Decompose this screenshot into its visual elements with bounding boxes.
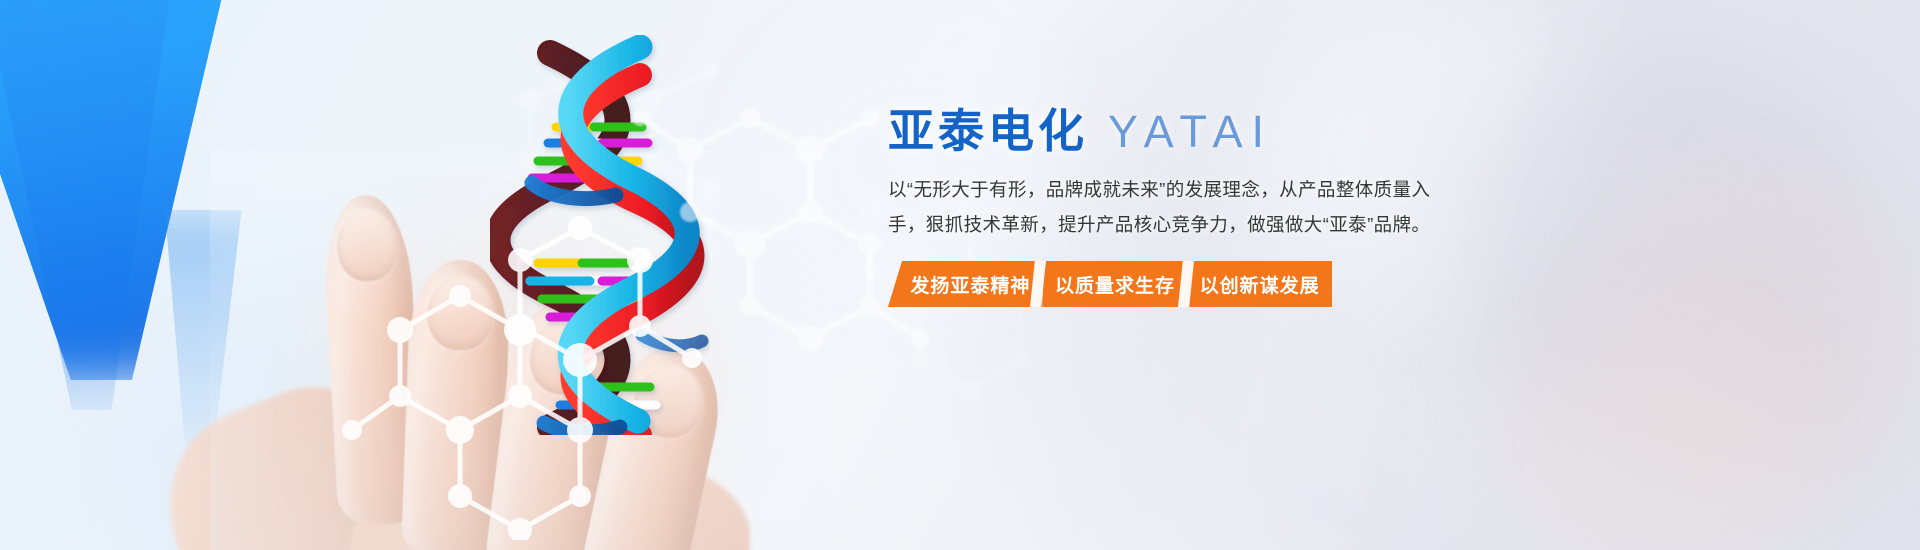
dna-double-helix-icon: [490, 35, 710, 435]
slogan-tag[interactable]: 发扬亚泰精神: [888, 261, 1043, 307]
slogan-tag[interactable]: 以质量求生存: [1043, 261, 1188, 307]
background-blob: [1600, 190, 1920, 520]
slogan-tag-label: 以创新谋发展: [1200, 271, 1320, 298]
banner-description: 以“无形大于有形，品牌成就未来”的发展理念，从产品整体质量入 手，狠抓技术革新，…: [888, 172, 1512, 242]
title-english: YATAI: [1108, 106, 1273, 157]
background-blob: [1500, 330, 1800, 550]
description-line-2: 手，狠抓技术革新，提升产品核心竞争力，做强做大“亚泰”品牌。: [888, 207, 1512, 242]
hero-banner: 亚泰电化YATAI 以“无形大于有形，品牌成就未来”的发展理念，从产品整体质量入…: [0, 0, 1920, 550]
banner-content: 亚泰电化YATAI 以“无形大于有形，品牌成就未来”的发展理念，从产品整体质量入…: [888, 108, 1588, 307]
title-chinese: 亚泰电化: [888, 105, 1088, 157]
slogan-tag-bar: 发扬亚泰精神 以质量求生存 以创新谋发展: [888, 261, 1332, 307]
slogan-tag-label: 以质量求生存: [1055, 271, 1175, 298]
description-line-1: 以“无形大于有形，品牌成就未来”的发展理念，从产品整体质量入: [888, 172, 1512, 207]
slogan-tag[interactable]: 以创新谋发展: [1187, 261, 1332, 307]
slogan-tag-label: 发扬亚泰精神: [910, 271, 1030, 298]
page-title: 亚泰电化YATAI: [888, 108, 1588, 154]
